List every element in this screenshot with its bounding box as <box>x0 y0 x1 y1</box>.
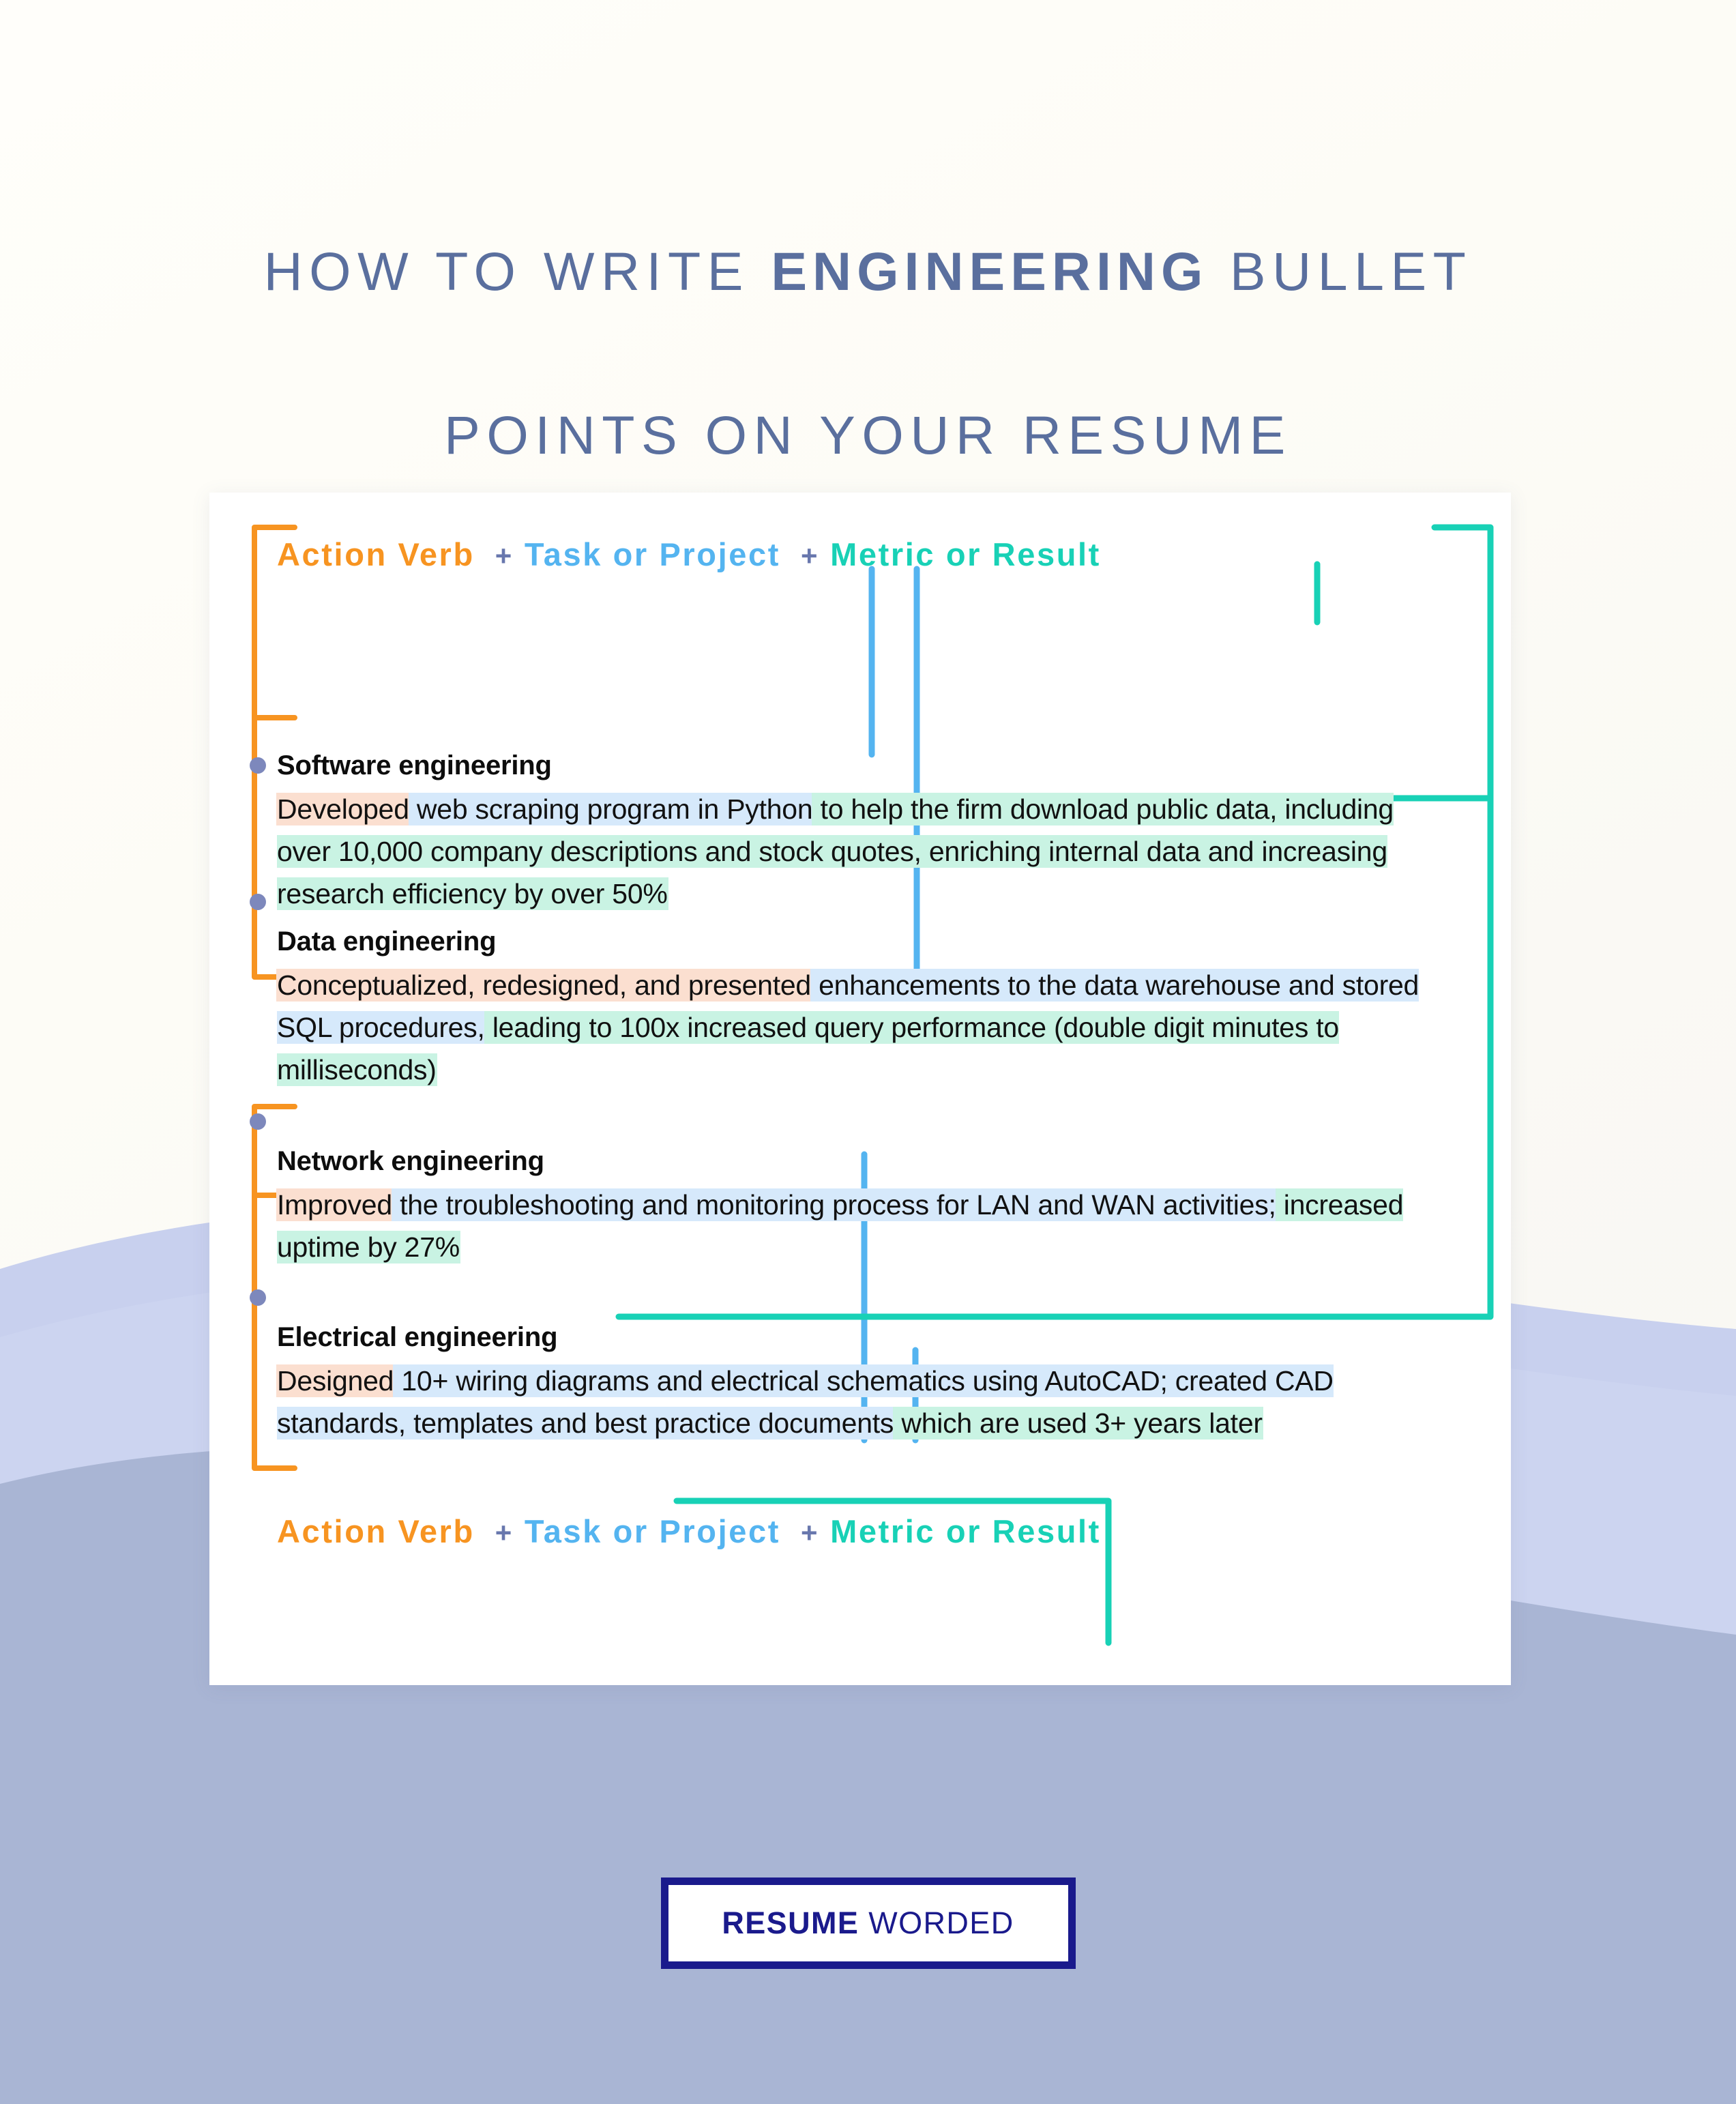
bullet-title: Software engineering <box>277 750 1450 781</box>
legend-task-or-project: Task or Project <box>525 536 780 572</box>
bullet-verb: Designed <box>277 1365 394 1397</box>
bullet-dot-icon <box>250 757 266 774</box>
bullet-dot-icon <box>250 1289 266 1306</box>
legend-metric-or-result: Metric or Result <box>830 1513 1101 1549</box>
legend-action-verb: Action Verb <box>277 1513 475 1549</box>
logo-text-light: WORDED <box>859 1905 1014 1940</box>
logo-text: RESUME WORDED <box>722 1905 1014 1941</box>
bullet-body: Designed 10+ wiring diagrams and electri… <box>277 1360 1450 1444</box>
bullet-body: Improved the troubleshooting and monitor… <box>277 1184 1450 1268</box>
legend-metric-or-result: Metric or Result <box>830 536 1101 572</box>
bullet-verb: Developed <box>277 793 409 825</box>
page-title-line1-post: BULLET <box>1208 241 1472 302</box>
bullet-block-software-engineering: Software engineering Developed web scrap… <box>277 750 1450 915</box>
bullet-title: Data engineering <box>277 926 1450 957</box>
legend-row-top: Action Verb+Task or Project+Metric or Re… <box>277 536 1101 573</box>
legend-plus-1: + <box>495 1517 514 1549</box>
bullet-block-network-engineering: Network engineering Improved the trouble… <box>277 1146 1450 1268</box>
page-title-line1-pre: HOW TO WRITE <box>264 241 771 302</box>
bullet-title: Electrical engineering <box>277 1322 1450 1353</box>
bullet-dot-icon <box>250 1113 266 1130</box>
bullet-block-electrical-engineering: Electrical engineering Designed 10+ wiri… <box>277 1322 1450 1444</box>
legend-task-or-project: Task or Project <box>525 1513 780 1549</box>
bullet-verb: Conceptualized, redesigned, and presente… <box>277 969 811 1001</box>
resume-worded-logo[interactable]: RESUME WORDED <box>661 1877 1076 1969</box>
bullet-title: Network engineering <box>277 1146 1450 1177</box>
bullet-body: Developed web scraping program in Python… <box>277 788 1450 915</box>
legend-plus-2: + <box>801 1517 819 1549</box>
logo-text-bold: RESUME <box>722 1905 859 1940</box>
page-title: HOW TO WRITE ENGINEERING BULLET POINTS O… <box>0 149 1736 476</box>
page-title-line2: POINTS ON YOUR RESUME <box>444 405 1292 465</box>
page-title-keyword: ENGINEERING <box>771 241 1208 302</box>
bullet-verb: Improved <box>277 1189 392 1221</box>
bullet-block-data-engineering: Data engineering Conceptualized, redesig… <box>277 926 1450 1091</box>
legend-plus-2: + <box>801 540 819 572</box>
legend-action-verb: Action Verb <box>277 536 475 572</box>
bullet-task: web scraping program in Python <box>409 793 813 825</box>
bullet-body: Conceptualized, redesigned, and presente… <box>277 964 1450 1091</box>
legend-row-bottom: Action Verb+Task or Project+Metric or Re… <box>277 1513 1101 1550</box>
bullet-dot-icon <box>250 894 266 910</box>
legend-plus-1: + <box>495 540 514 572</box>
bullet-metric: which are used 3+ years later <box>894 1407 1263 1439</box>
bullet-task: the troubleshooting and monitoring proce… <box>392 1189 1276 1221</box>
